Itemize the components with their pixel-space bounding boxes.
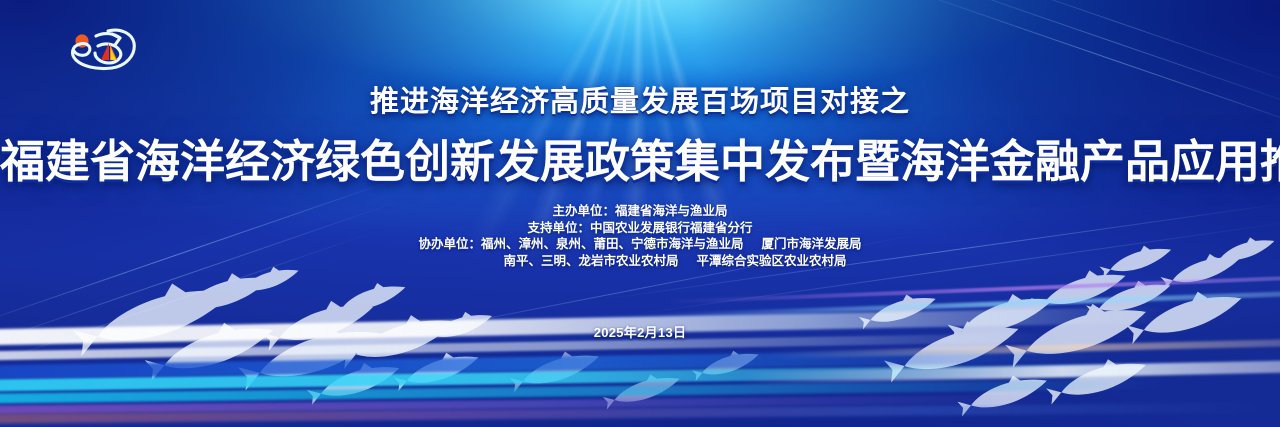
support-label: 支持单位： [527, 221, 590, 235]
coorganizer-row-1: 协办单位：福州、漳州、泉州、莆田、宁德市海洋与渔业局厦门市海洋发展局 [0, 236, 1280, 253]
support-value: 中国农业发展银行福建省分行 [590, 221, 753, 235]
support-row: 支持单位：中国农业发展银行福建省分行 [0, 220, 1280, 237]
host-row: 主办单位：福建省海洋与渔业局 [0, 203, 1280, 220]
coorganizer-label: 协办单位： [418, 237, 481, 251]
organizer-block: 主办单位：福建省海洋与渔业局 支持单位：中国农业发展银行福建省分行 协办单位：福… [0, 203, 1280, 269]
coorganizer-value-d: 平潭综合实验区农业农村局 [697, 254, 847, 268]
host-value: 福建省海洋与渔业局 [615, 204, 728, 218]
conference-banner: 推进海洋经济高质量发展百场项目对接之 福建省海洋经济绿色创新发展政策集中发布暨海… [0, 0, 1280, 427]
fujian-ocean-fishery-emblem-logo [52, 22, 148, 78]
host-label: 主办单位： [552, 204, 615, 218]
event-subtitle: 推进海洋经济高质量发展百场项目对接之 [0, 78, 1280, 120]
event-date: 2025年2月13日 [0, 322, 1280, 341]
coorganizer-value-a: 福州、漳州、泉州、莆田、宁德市海洋与渔业局 [481, 237, 744, 251]
coorganizer-row-2: 南平、三明、龙岩市农业农村局平潭综合实验区农业农村局 [0, 253, 1280, 270]
coorganizer-value-c: 南平、三明、龙岩市农业农村局 [503, 254, 678, 268]
event-main-title: 福建省海洋经济绿色创新发展政策集中发布暨海洋金融产品应用推广会 [0, 125, 1280, 190]
coorganizer-value-b: 厦门市海洋发展局 [762, 237, 862, 251]
emblem-icon [52, 22, 148, 78]
